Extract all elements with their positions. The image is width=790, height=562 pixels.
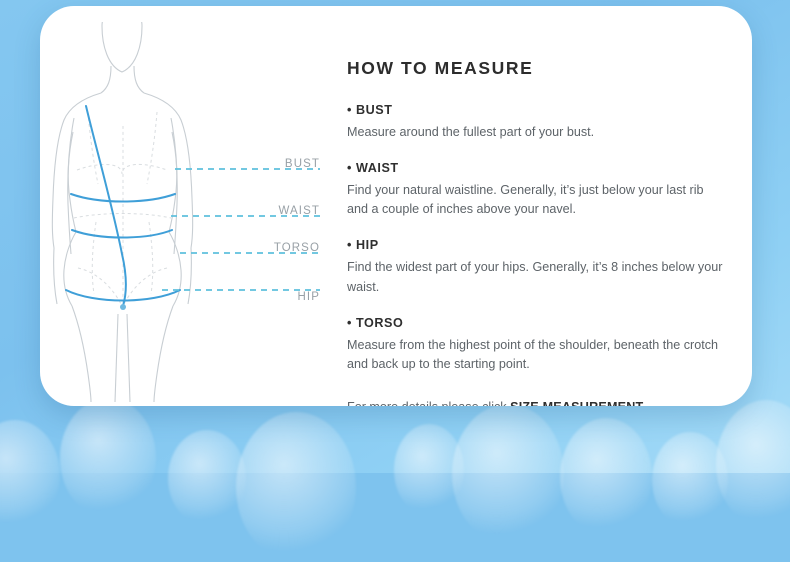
section-body-hip: Find the widest part of your hips. Gener… xyxy=(347,258,727,296)
waist-tape-line xyxy=(72,230,172,238)
label-torso: TORSO xyxy=(200,242,320,254)
bokeh-circle xyxy=(394,424,464,516)
size-measurement-link[interactable]: SIZE MEASUREMENT xyxy=(510,400,643,406)
bokeh-circle xyxy=(652,432,728,528)
bokeh-circle xyxy=(452,404,564,544)
section-torso: • TORSO Measure from the highest point o… xyxy=(347,316,727,374)
bokeh-circle xyxy=(0,420,60,530)
measurement-figure-panel: BUST WAIST TORSO HIP xyxy=(40,6,330,406)
bokeh-circle xyxy=(716,400,790,528)
bokeh-circle xyxy=(60,398,156,518)
section-heading-hip: • HIP xyxy=(347,238,727,252)
footer-note-suffix: . xyxy=(643,400,647,406)
bokeh-circle xyxy=(560,418,652,536)
torso-tape-joint xyxy=(120,304,126,310)
footer-note: For more details please click SIZE MEASU… xyxy=(347,400,727,406)
section-hip: • HIP Find the widest part of your hips.… xyxy=(347,238,727,296)
garment-construction-lines xyxy=(74,112,171,306)
section-body-waist: Find your natural waistline. Generally, … xyxy=(347,181,727,219)
measure-instructions: HOW TO MEASURE • BUST Measure around the… xyxy=(347,58,727,406)
section-heading-torso: • TORSO xyxy=(347,316,727,330)
label-waist: WAIST xyxy=(200,205,320,217)
bokeh-circle xyxy=(168,430,246,526)
section-bust: • BUST Measure around the fullest part o… xyxy=(347,103,727,142)
section-heading-bust: • BUST xyxy=(347,103,727,117)
section-body-torso: Measure from the highest point of the sh… xyxy=(347,336,727,374)
label-bust: BUST xyxy=(200,158,320,170)
bokeh-circle xyxy=(236,412,356,562)
section-heading-waist: • WAIST xyxy=(347,161,727,175)
section-body-bust: Measure around the fullest part of your … xyxy=(347,123,727,142)
how-to-measure-card: BUST WAIST TORSO HIP HOW TO MEASURE • BU… xyxy=(40,6,752,406)
label-hip: HIP xyxy=(200,291,320,303)
page-title: HOW TO MEASURE xyxy=(347,58,727,79)
measurement-guide-lines xyxy=(162,169,320,290)
footer-note-prefix: For more details please click xyxy=(347,400,510,406)
section-waist: • WAIST Find your natural waistline. Gen… xyxy=(347,161,727,219)
